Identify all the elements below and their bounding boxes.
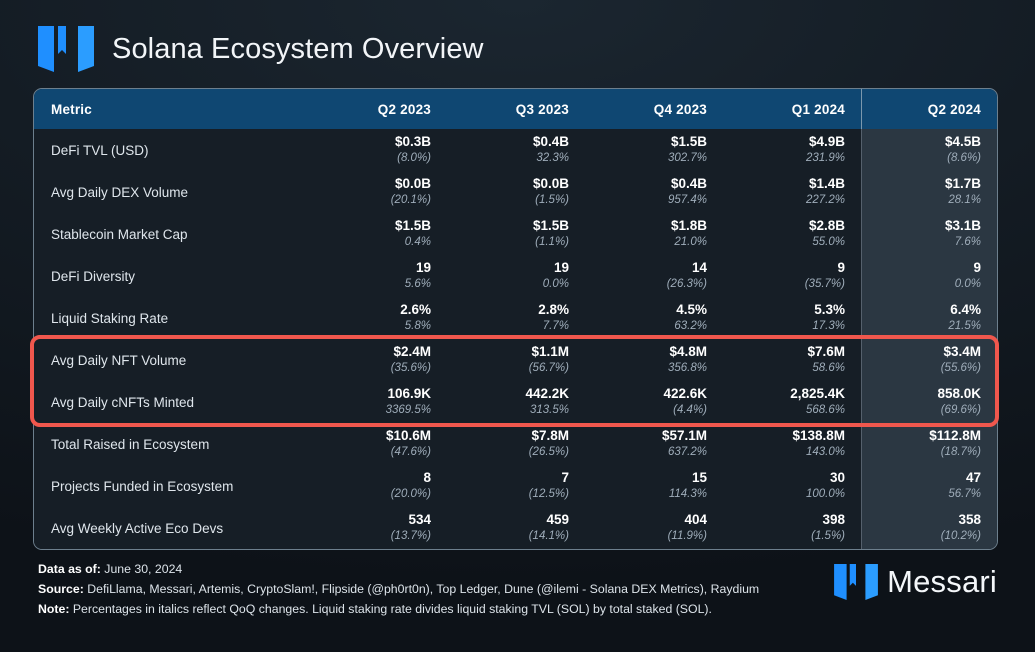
metric-delta: (56.7%) [463,361,569,376]
metric-value-cell: $57.1M637.2% [585,423,723,465]
note-value: Percentages in italics reflect QoQ chang… [73,602,712,616]
metric-value: $1.1M [463,344,569,360]
metric-value: 534 [325,512,431,528]
metric-value: 398 [739,512,845,528]
metric-value: $4.9B [739,134,845,150]
messari-logo-icon [834,564,878,600]
metric-value: 6.4% [878,302,981,318]
metric-value: 422.6K [601,386,707,402]
metric-value: 442.2K [463,386,569,402]
table-row: Avg Weekly Active Eco Devs534(13.7%)459(… [34,507,997,549]
metric-value: 15 [601,470,707,486]
metric-value-cell: 2.8%7.7% [447,297,585,339]
metric-value-cell: $7.8M(26.5%) [447,423,585,465]
metric-value: 4.5% [601,302,707,318]
metric-value: $0.0B [463,176,569,192]
metric-value-cell: 8(20.0%) [309,465,447,507]
metric-name-cell: Avg Daily NFT Volume [34,339,309,381]
column-header-q4-2023: Q4 2023 [585,89,723,129]
metric-value-cell: 422.6K(4.4%) [585,381,723,423]
metric-delta: 0.0% [463,277,569,292]
table-row: Total Raised in Ecosystem$10.6M(47.6%)$7… [34,423,997,465]
table-row: Stablecoin Market Cap$1.5B0.4%$1.5B(1.1%… [34,213,997,255]
metric-delta: (11.9%) [601,529,707,544]
metric-value: $2.8B [739,218,845,234]
footnotes: Data as of: June 30, 2024 Source: DefiLl… [38,560,759,620]
metric-delta: 568.6% [739,403,845,418]
metric-value-cell: 398(1.5%) [723,507,861,549]
metric-name-cell: Avg Weekly Active Eco Devs [34,507,309,549]
data-as-of-value: June 30, 2024 [104,562,182,576]
metric-value: $1.5B [463,218,569,234]
metric-delta: 56.7% [878,487,981,502]
metric-delta: 28.1% [878,193,981,208]
metric-delta: 5.6% [325,277,431,292]
metric-delta: 637.2% [601,445,707,460]
source-label: Source: [38,582,84,596]
data-as-of-label: Data as of: [38,562,101,576]
metric-delta: 227.2% [739,193,845,208]
metric-delta: 21.5% [878,319,981,334]
metric-value: 19 [325,260,431,276]
column-header-metric: Metric [34,89,309,129]
metric-delta: (4.4%) [601,403,707,418]
page-footer: Data as of: June 30, 2024 Source: DefiLl… [33,550,1002,652]
metric-name-cell: Avg Daily DEX Volume [34,171,309,213]
metric-delta: 3369.5% [325,403,431,418]
metric-name-cell: Avg Daily cNFTs Minted [34,381,309,423]
metric-value: $10.6M [325,428,431,444]
metric-name-cell: Total Raised in Ecosystem [34,423,309,465]
metric-value: 7 [463,470,569,486]
metric-delta: 55.0% [739,235,845,250]
source-value: DefiLlama, Messari, Artemis, CryptoSlam!… [87,582,759,596]
metric-value-cell: $3.4M(55.6%) [861,339,997,381]
metric-delta: 7.7% [463,319,569,334]
metric-delta: (69.6%) [878,403,981,418]
metric-delta: (55.6%) [878,361,981,376]
metric-value-cell: 2,825.4K568.6% [723,381,861,423]
metric-value-cell: 358(10.2%) [861,507,997,549]
metric-value-cell: $0.3B(8.0%) [309,129,447,171]
metric-value: $1.5B [601,134,707,150]
metric-value: $0.4B [463,134,569,150]
metric-value-cell: $4.9B231.9% [723,129,861,171]
metric-value: 2.8% [463,302,569,318]
metric-value: $0.0B [325,176,431,192]
table-row: Projects Funded in Ecosystem8(20.0%)7(12… [34,465,997,507]
metric-delta: 21.0% [601,235,707,250]
metric-delta: (13.7%) [325,529,431,544]
metric-delta: (35.7%) [739,277,845,292]
metric-value: $1.8B [601,218,707,234]
metric-value: $112.8M [878,428,981,444]
metric-name-cell: Liquid Staking Rate [34,297,309,339]
column-header-q2-2024: Q2 2024 [861,89,997,129]
metric-value-cell: $2.4M(35.6%) [309,339,447,381]
report-page: Solana Ecosystem Overview Metric Q2 2023… [0,0,1035,652]
metric-value-cell: $1.4B227.2% [723,171,861,213]
metric-value-cell: 459(14.1%) [447,507,585,549]
metric-value: 8 [325,470,431,486]
metric-delta: 7.6% [878,235,981,250]
table-row: Liquid Staking Rate2.6%5.8%2.8%7.7%4.5%6… [34,297,997,339]
metric-value-cell: 30100.0% [723,465,861,507]
metric-delta: (1.5%) [739,529,845,544]
metric-delta: 0.0% [878,277,981,292]
metric-value: $2.4M [325,344,431,360]
metric-value-cell: $3.1B7.6% [861,213,997,255]
metric-value-cell: $138.8M143.0% [723,423,861,465]
metric-value: $7.8M [463,428,569,444]
metric-value: $57.1M [601,428,707,444]
metric-delta: (1.1%) [463,235,569,250]
metric-value: $1.5B [325,218,431,234]
metric-value: 404 [601,512,707,528]
metric-value: $0.3B [325,134,431,150]
note-line: Note: Percentages in italics reflect QoQ… [38,600,759,620]
page-title: Solana Ecosystem Overview [112,33,484,66]
metric-value-cell: $1.5B302.7% [585,129,723,171]
messari-logo-icon [38,26,94,72]
metric-value-cell: $10.6M(47.6%) [309,423,447,465]
metric-name-cell: DeFi TVL (USD) [34,129,309,171]
metric-delta: (1.5%) [463,193,569,208]
metrics-table-wrap: Metric Q2 2023 Q3 2023 Q4 2023 Q1 2024 Q… [33,88,1002,550]
metric-delta: 313.5% [463,403,569,418]
metric-delta: 58.6% [739,361,845,376]
table-row: DeFi TVL (USD)$0.3B(8.0%)$0.4B32.3%$1.5B… [34,129,997,171]
metric-delta: 957.4% [601,193,707,208]
metric-delta: (47.6%) [325,445,431,460]
column-header-q2-2023: Q2 2023 [309,89,447,129]
metric-value-cell: 9(35.7%) [723,255,861,297]
metric-delta: (8.0%) [325,151,431,166]
metric-value-cell: 534(13.7%) [309,507,447,549]
metric-value-cell: 6.4%21.5% [861,297,997,339]
metric-value: $1.7B [878,176,981,192]
metric-delta: (18.7%) [878,445,981,460]
metric-value: 14 [601,260,707,276]
metric-value-cell: 4.5%63.2% [585,297,723,339]
metric-value: $4.8M [601,344,707,360]
metric-delta: (8.6%) [878,151,981,166]
metric-value-cell: 404(11.9%) [585,507,723,549]
metric-value: 459 [463,512,569,528]
metric-value: 5.3% [739,302,845,318]
metric-value-cell: $0.4B957.4% [585,171,723,213]
metric-value-cell: $112.8M(18.7%) [861,423,997,465]
metric-value: $1.4B [739,176,845,192]
metric-value: 19 [463,260,569,276]
metric-value: 30 [739,470,845,486]
column-header-q3-2023: Q3 2023 [447,89,585,129]
metric-delta: (14.1%) [463,529,569,544]
metric-delta: 17.3% [739,319,845,334]
brand-lockup: Messari [834,560,999,600]
metric-value-cell: $2.8B55.0% [723,213,861,255]
metric-value: 9 [739,260,845,276]
metric-delta: 114.3% [601,487,707,502]
metric-value: 9 [878,260,981,276]
metric-delta: (20.0%) [325,487,431,502]
metric-delta: 143.0% [739,445,845,460]
metric-value: $0.4B [601,176,707,192]
metric-value-cell: 195.6% [309,255,447,297]
source-line: Source: DefiLlama, Messari, Artemis, Cry… [38,580,759,600]
page-header: Solana Ecosystem Overview [33,14,1002,84]
table-row: Avg Daily cNFTs Minted106.9K3369.5%442.2… [34,381,997,423]
metric-value-cell: 442.2K313.5% [447,381,585,423]
metric-value-cell: 5.3%17.3% [723,297,861,339]
metric-delta: (26.3%) [601,277,707,292]
metric-value-cell: 4756.7% [861,465,997,507]
metric-value: $3.4M [878,344,981,360]
metric-value-cell: $0.0B(1.5%) [447,171,585,213]
metric-name-cell: Stablecoin Market Cap [34,213,309,255]
table-row: DeFi Diversity195.6%190.0%14(26.3%)9(35.… [34,255,997,297]
metric-value-cell: 14(26.3%) [585,255,723,297]
metric-delta: 302.7% [601,151,707,166]
metric-value-cell: $1.1M(56.7%) [447,339,585,381]
metric-value-cell: 858.0K(69.6%) [861,381,997,423]
metric-value-cell: $7.6M58.6% [723,339,861,381]
metric-value: $138.8M [739,428,845,444]
metric-value: $4.5B [878,134,981,150]
metric-value-cell: $4.8M356.8% [585,339,723,381]
metric-value: 47 [878,470,981,486]
metric-value-cell: $1.5B(1.1%) [447,213,585,255]
metric-value: 2,825.4K [739,386,845,402]
metric-value: 858.0K [878,386,981,402]
metric-delta: 231.9% [739,151,845,166]
metric-value-cell: $0.4B32.3% [447,129,585,171]
metric-value-cell: $4.5B(8.6%) [861,129,997,171]
metric-name-cell: DeFi Diversity [34,255,309,297]
metric-value: $7.6M [739,344,845,360]
table-head: Metric Q2 2023 Q3 2023 Q4 2023 Q1 2024 Q… [34,89,997,129]
metric-name-cell: Projects Funded in Ecosystem [34,465,309,507]
metric-delta: 0.4% [325,235,431,250]
note-label: Note: [38,602,69,616]
metrics-table: Metric Q2 2023 Q3 2023 Q4 2023 Q1 2024 Q… [33,88,998,550]
table-body: DeFi TVL (USD)$0.3B(8.0%)$0.4B32.3%$1.5B… [34,129,997,549]
metric-value-cell: 7(12.5%) [447,465,585,507]
column-header-q1-2024: Q1 2024 [723,89,861,129]
metric-value-cell: $0.0B(20.1%) [309,171,447,213]
metric-value-cell: $1.8B21.0% [585,213,723,255]
metric-value-cell: 90.0% [861,255,997,297]
metric-delta: 32.3% [463,151,569,166]
metric-value: $3.1B [878,218,981,234]
metric-value-cell: 15114.3% [585,465,723,507]
table-row: Avg Daily NFT Volume$2.4M(35.6%)$1.1M(56… [34,339,997,381]
table-row: Avg Daily DEX Volume$0.0B(20.1%)$0.0B(1.… [34,171,997,213]
metric-delta: (26.5%) [463,445,569,460]
metric-delta: (10.2%) [878,529,981,544]
data-as-of-line: Data as of: June 30, 2024 [38,560,759,580]
metric-delta: (20.1%) [325,193,431,208]
metric-value-cell: 106.9K3369.5% [309,381,447,423]
table-header-row: Metric Q2 2023 Q3 2023 Q4 2023 Q1 2024 Q… [34,89,997,129]
metric-value: 358 [878,512,981,528]
metric-value-cell: 190.0% [447,255,585,297]
metric-value-cell: 2.6%5.8% [309,297,447,339]
metric-delta: 5.8% [325,319,431,334]
metric-delta: (35.6%) [325,361,431,376]
metric-value: 106.9K [325,386,431,402]
metric-value: 2.6% [325,302,431,318]
metric-delta: (12.5%) [463,487,569,502]
brand-name: Messari [887,564,997,600]
metric-delta: 100.0% [739,487,845,502]
metric-value-cell: $1.7B28.1% [861,171,997,213]
metric-value-cell: $1.5B0.4% [309,213,447,255]
metric-delta: 356.8% [601,361,707,376]
metric-delta: 63.2% [601,319,707,334]
